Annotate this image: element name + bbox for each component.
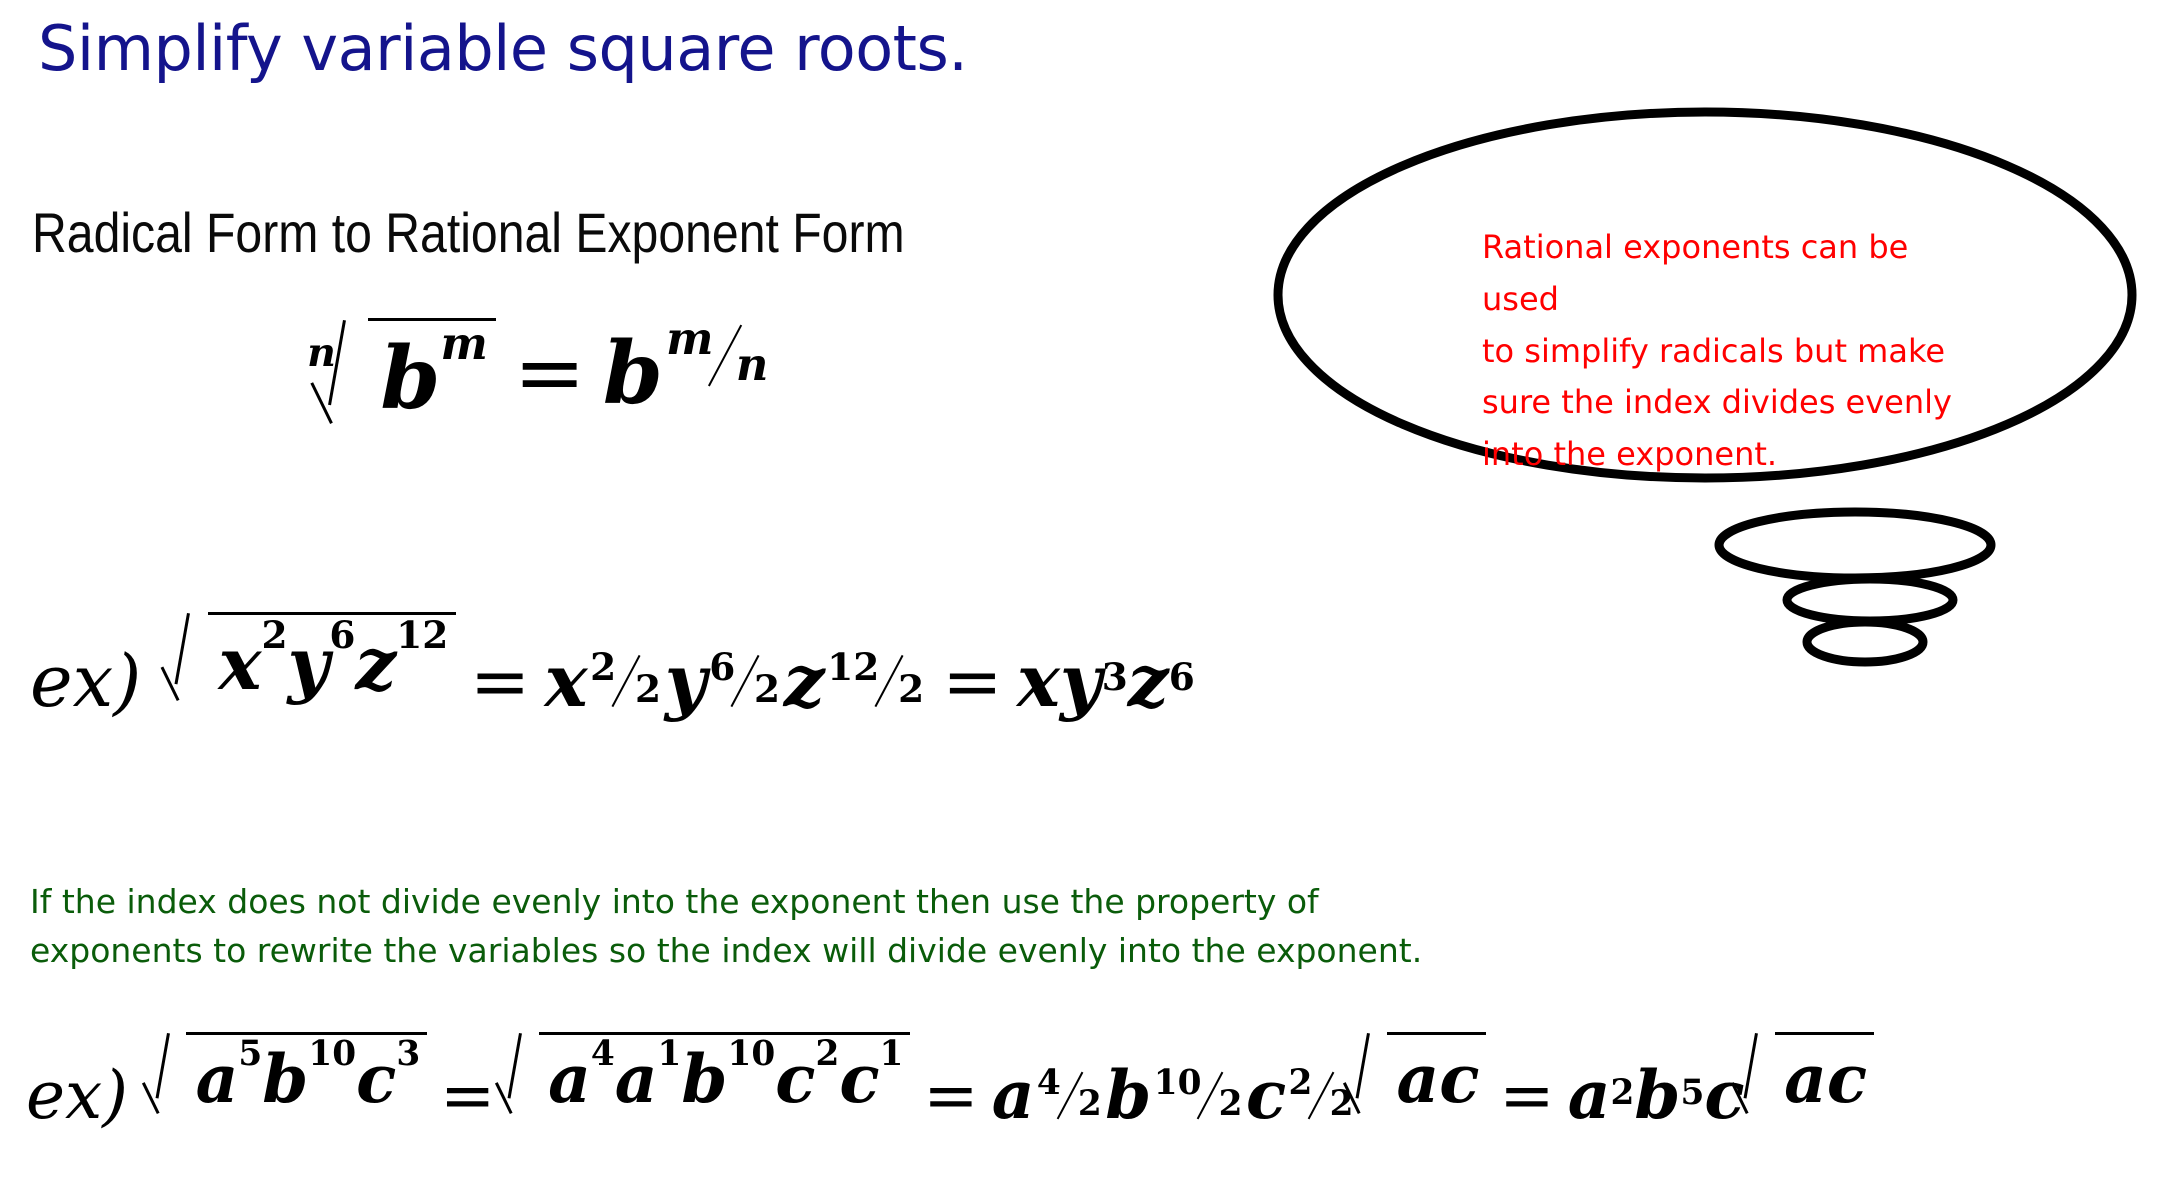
example-2-label: ex) xyxy=(26,1057,156,1134)
radicand-base-y: y xyxy=(287,621,329,706)
radicand-base-a2: a xyxy=(615,1040,658,1118)
fraction-denominator: n xyxy=(736,338,769,391)
final-exp-b: 5 xyxy=(1681,1073,1705,1113)
thought-bubble-tail-ellipse-small xyxy=(1807,622,1923,662)
step-fraction-a: 42 xyxy=(1034,1069,1105,1122)
fraction-denominator: 2 xyxy=(1219,1084,1243,1124)
example-1-label: ex) xyxy=(30,639,175,723)
fraction-denominator: 2 xyxy=(754,667,780,711)
thought-bubble-tail-ellipse-large xyxy=(1719,512,1991,578)
radicand-exp-b: 10 xyxy=(308,1034,356,1074)
thought-bubble-tail-ellipse-medium xyxy=(1787,579,1953,621)
example-2-radicand-3: ac xyxy=(1387,1032,1486,1118)
fraction-slash-icon xyxy=(613,652,636,710)
example-1-radical: x2y6z12 xyxy=(175,612,455,706)
fraction-slash-icon xyxy=(710,321,738,390)
radicand-exponent: m xyxy=(440,317,487,370)
radicand: bm xyxy=(368,318,496,429)
bubble-text-line-2: to simplify radicals but make xyxy=(1482,326,1952,378)
page-title: Simplify variable square roots. xyxy=(38,12,968,85)
radicand-base: b xyxy=(380,328,440,429)
radicand-exp-a2: 1 xyxy=(658,1034,682,1074)
fraction-slash-icon xyxy=(1199,1069,1220,1122)
step-base-c: c xyxy=(1246,1056,1286,1134)
final-exp-a: 2 xyxy=(1610,1073,1634,1113)
example-2-radicand-1: a5b10c3 xyxy=(186,1032,426,1118)
fraction-numerator: m xyxy=(666,312,713,365)
example-1: ex) x2y6z12 = x22y62z122 = xy3z6 xyxy=(30,612,1195,725)
fraction-denominator: 2 xyxy=(1078,1084,1102,1124)
equals-sign-2: = xyxy=(910,1057,992,1134)
radical-sign-icon xyxy=(175,612,208,706)
radicand-exp-x: 2 xyxy=(261,613,287,657)
fraction-slash-icon xyxy=(732,652,755,710)
example-2-radical-1: a5b10c3 xyxy=(156,1032,427,1118)
radicand-exp-y: 6 xyxy=(329,613,355,657)
example-2: ex) a5b10c3 = a4a1b10c2c1 = a42b102c22 a… xyxy=(26,1032,1874,1136)
radicand-base-b: b xyxy=(262,1040,308,1118)
example-2-radical-3: ac xyxy=(1357,1032,1486,1118)
green-note-line-2: exponents to rewrite the variables so th… xyxy=(30,927,1550,976)
equals-sign-2: = xyxy=(928,639,1017,723)
step-base-z: z xyxy=(784,638,825,723)
step-base-b: b xyxy=(1105,1056,1151,1134)
bubble-text-line-1: Rational exponents can be used xyxy=(1482,222,1952,326)
radicand-base-c2: c xyxy=(839,1040,879,1118)
fraction-numerator: 10 xyxy=(1154,1063,1202,1103)
radicand-base-z: z xyxy=(355,621,396,706)
example-2-radicand-4: ac xyxy=(1775,1032,1874,1118)
example-2-radical-2: a4a1b10c2c1 xyxy=(509,1032,911,1118)
radicand-exp-a: 5 xyxy=(238,1034,262,1074)
final-base-a: a xyxy=(1568,1056,1611,1134)
radical-sign-icon xyxy=(1357,1032,1387,1118)
fraction-denominator: 2 xyxy=(635,667,661,711)
step-base-y: y xyxy=(665,638,707,723)
equals-sign-1: = xyxy=(456,639,545,723)
example-2-radicand-2: a4a1b10c2c1 xyxy=(539,1032,910,1118)
equals-sign-1: = xyxy=(427,1057,509,1134)
fraction-numerator: 12 xyxy=(827,645,879,689)
fraction-slash-icon xyxy=(1058,1069,1079,1122)
final-exp-y: 3 xyxy=(1102,655,1128,699)
radicand-base-a1: a xyxy=(548,1040,591,1118)
radicand-base-x: x xyxy=(219,621,262,706)
radical-sign-icon xyxy=(509,1032,539,1118)
result-base: b xyxy=(603,323,663,424)
radicand-exp-c2: 1 xyxy=(880,1034,904,1074)
step-base-x: x xyxy=(545,638,588,723)
fraction-denominator: 2 xyxy=(898,667,924,711)
fraction-slash-icon xyxy=(1310,1069,1331,1122)
step-fraction-c: 22 xyxy=(1286,1069,1357,1122)
fraction-slash-icon xyxy=(876,652,899,710)
equals-sign-3: = xyxy=(1486,1057,1568,1134)
step-fraction-y: 62 xyxy=(707,652,784,710)
fraction-denominator: 2 xyxy=(1330,1084,1354,1124)
radicand-exp-z: 12 xyxy=(396,613,448,657)
step-fraction-b: 102 xyxy=(1151,1069,1246,1122)
green-note-line-1: If the index does not divide evenly into… xyxy=(30,878,1550,927)
main-formula: n bm = bmn xyxy=(300,318,773,429)
final-base-z: z xyxy=(1128,638,1169,723)
radicand-base-b1: b xyxy=(681,1040,727,1118)
rational-exponent-fraction: mn xyxy=(663,321,773,390)
step-fraction-z: 122 xyxy=(825,652,928,710)
final-exp-z: 6 xyxy=(1169,655,1195,699)
example-2-radical-4: ac xyxy=(1745,1032,1874,1118)
step-fraction-x: 22 xyxy=(588,652,665,710)
equals-sign: = xyxy=(496,323,602,423)
radical-sign-icon xyxy=(1745,1032,1775,1118)
example-1-radicand: x2y6z12 xyxy=(208,612,455,706)
green-note: If the index does not divide evenly into… xyxy=(30,878,1550,976)
final-base-b: b xyxy=(1634,1056,1680,1134)
radical-index: n xyxy=(307,330,336,376)
radicand-base-c: c xyxy=(356,1040,396,1118)
thought-bubble-text: Rational exponents can be used to simpli… xyxy=(1482,222,1952,481)
radicand-base-c1: c xyxy=(775,1040,815,1118)
radicand-exp-c1: 2 xyxy=(815,1034,839,1074)
final-base-y: y xyxy=(1060,638,1102,723)
final-x: x xyxy=(1017,638,1060,723)
step-base-a: a xyxy=(992,1056,1035,1134)
radicand-exp-a1: 4 xyxy=(591,1034,615,1074)
radicand-exp-c: 3 xyxy=(396,1034,420,1074)
radicand-base-a: a xyxy=(196,1040,239,1118)
radical-sign-icon xyxy=(156,1032,186,1118)
radical-expression: n bm xyxy=(300,318,496,429)
radicand-exp-b1: 10 xyxy=(728,1034,776,1074)
bubble-text-line-3: sure the index divides evenly xyxy=(1482,377,1952,429)
bubble-text-line-4: into the exponent. xyxy=(1482,429,1952,481)
section-heading: Radical Form to Rational Exponent Form xyxy=(32,200,905,265)
